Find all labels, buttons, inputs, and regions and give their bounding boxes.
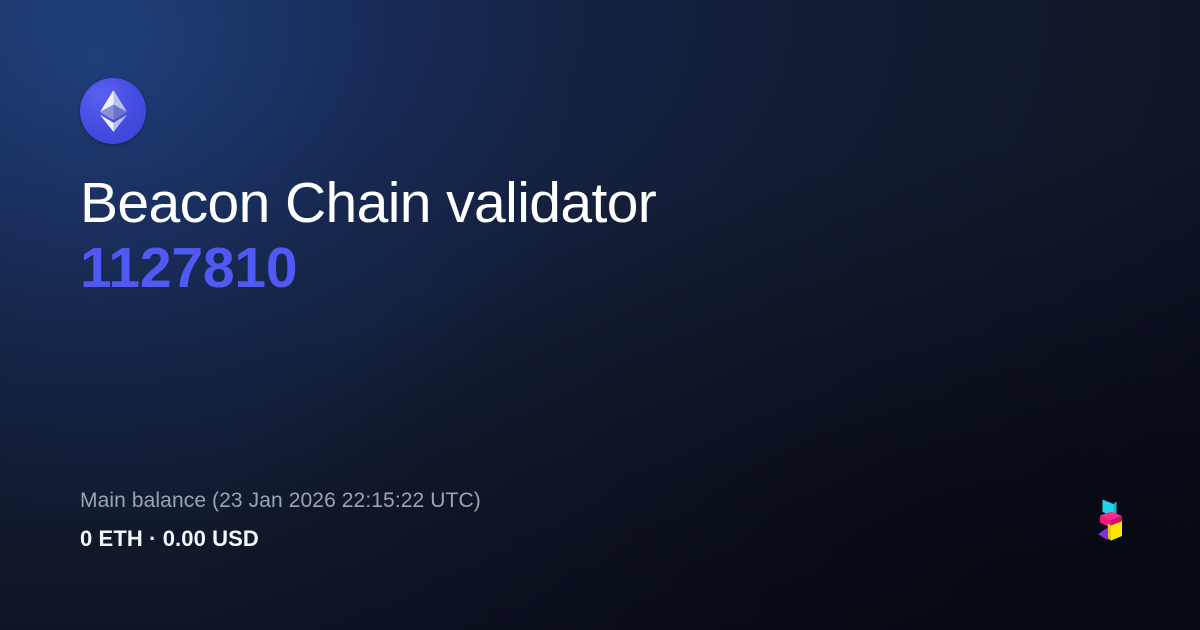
balance-value: 0 ETH · 0.00 USD <box>80 526 481 552</box>
ethereum-icon <box>100 90 127 132</box>
page-title: Beacon Chain validator 1127810 <box>80 174 1120 299</box>
beaconchain-logo <box>1092 496 1126 548</box>
og-preview-card: Beacon Chain validator 1127810 Main bala… <box>0 0 1200 630</box>
balance-summary: Main balance (23 Jan 2026 22:15:22 UTC) … <box>80 489 481 552</box>
validator-index-value: 1127810 <box>80 239 1120 298</box>
validator-title-text: Beacon Chain validator <box>80 174 1120 233</box>
ethereum-badge <box>80 78 146 144</box>
balance-label: Main balance (23 Jan 2026 22:15:22 UTC) <box>80 489 481 513</box>
card-content: Beacon Chain validator 1127810 <box>80 78 1120 299</box>
beaconchain-logo-icon <box>1092 496 1126 548</box>
